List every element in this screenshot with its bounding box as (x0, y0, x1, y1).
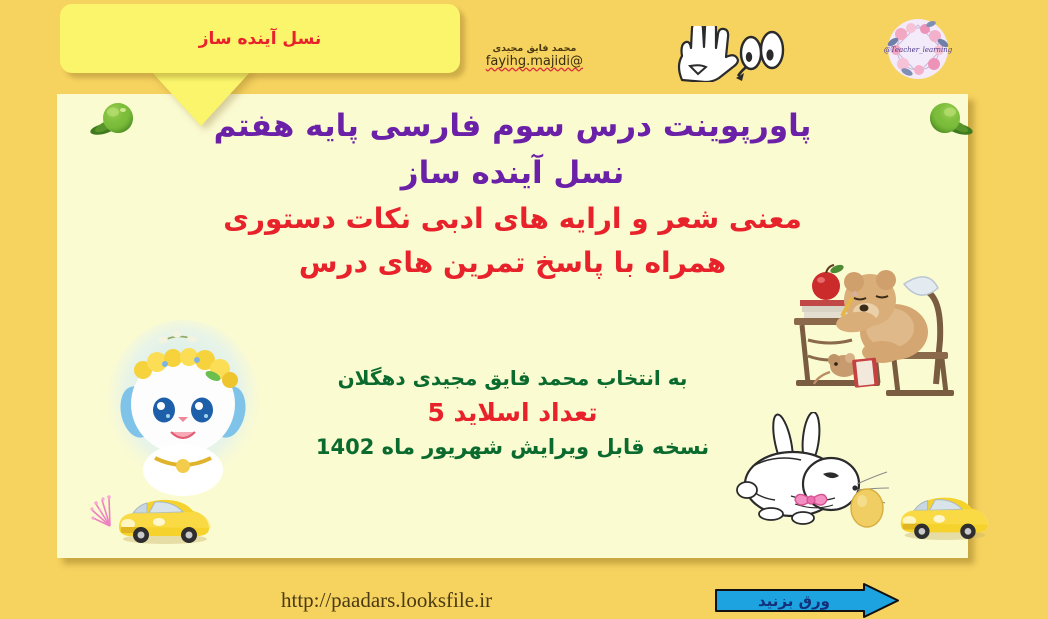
title-line-3: معنی شعر و ارایه های ادبی نکات دستوری (57, 197, 968, 240)
speech-bubble-body: نسل آینده ساز (60, 4, 460, 73)
white-puppy-with-flower-crown-image (99, 312, 267, 497)
yellow-convertible-car-image (895, 490, 991, 542)
slide-canvas: پاورپوینت درس سوم فارسی پایه هفتم نسل آی… (57, 94, 968, 558)
title-line-2: نسل آینده ساز (57, 150, 968, 197)
speech-bubble-text: نسل آینده ساز (199, 29, 322, 49)
footer-url[interactable]: http://paadars.looksfile.ir (281, 588, 492, 613)
cartoon-eyes-icon (741, 32, 783, 69)
teacher-learning-logo: @Teacher_learning (879, 16, 957, 82)
hand-and-eyes-decoration (668, 26, 788, 82)
yellow-convertible-car-image (113, 493, 213, 545)
hand-three-fingers-icon (679, 26, 738, 82)
presentation-page: پاورپوینت درس سوم فارسی پایه هفتم نسل آی… (0, 0, 1048, 619)
speech-bubble-callout: نسل آینده ساز (60, 4, 460, 126)
white-rabbit-with-egg-image (735, 412, 890, 534)
teddy-bear-studying-at-desk-image (786, 260, 971, 400)
speech-bubble-tail (150, 70, 252, 126)
logo-text: @Teacher_learning (884, 46, 953, 54)
next-slide-button[interactable]: ورق بزنید (714, 582, 900, 619)
author-signature: محمد فایق مجیدی fayihg.majidi@ (486, 44, 583, 70)
slide-title-block: پاورپوینت درس سوم فارسی پایه هفتم نسل آی… (57, 103, 968, 284)
signature-handle: fayihg.majidi@ (486, 55, 583, 70)
